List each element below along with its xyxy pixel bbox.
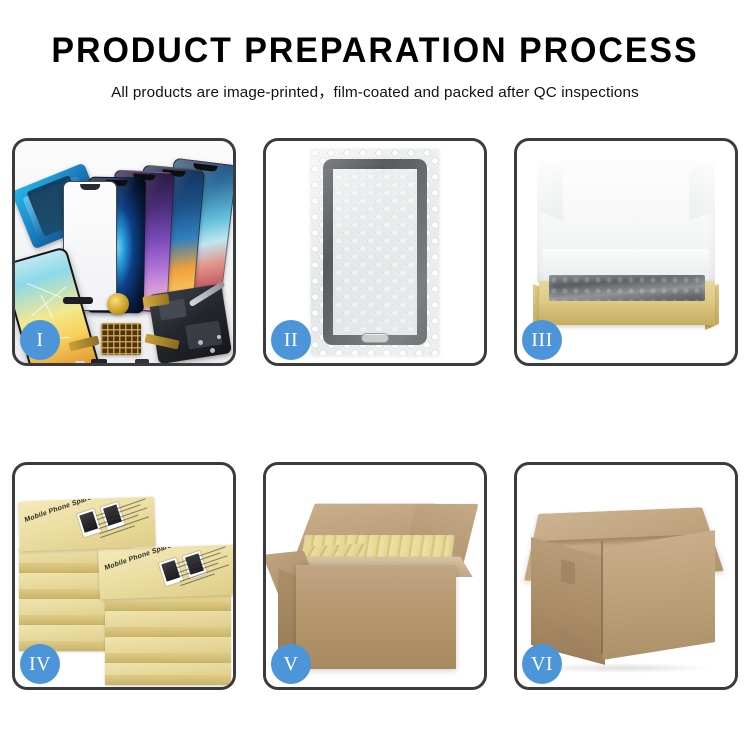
step-panel-6[interactable]: VI: [514, 462, 738, 690]
screw-part-icon: [198, 340, 203, 345]
step-panel-4[interactable]: Mobile Phone Spare Parts Mobile Phone Sp…: [12, 462, 236, 690]
step-panel-5[interactable]: V: [263, 462, 487, 690]
step-badge-1: I: [20, 320, 60, 360]
step-badge-3: III: [522, 320, 562, 360]
printed-box-lid-back: Mobile Phone Spare Parts: [18, 497, 156, 552]
step-badge-5: V: [271, 644, 311, 684]
carton-corner-edge: [601, 541, 603, 653]
step-badge-6: VI: [522, 644, 562, 684]
header: PRODUCT PREPARATION PROCESS All products…: [0, 0, 750, 102]
speaker-bar-part-icon: [63, 297, 93, 304]
screw-part-icon: [217, 335, 221, 339]
box-lid-right-icon: [689, 161, 715, 220]
box-lid-left-icon: [537, 161, 563, 220]
chip-array-part-icon: [101, 323, 141, 355]
page-subtitle: All products are image-printed，film-coat…: [0, 80, 750, 102]
step-panel-2[interactable]: II: [263, 138, 487, 366]
small-component-part-icon: [75, 361, 85, 363]
carton-tape-patch-icon: [561, 559, 575, 585]
step-panel-3[interactable]: III: [514, 138, 738, 366]
wrapped-phone-screen-icon: [323, 159, 427, 345]
step-badge-2: II: [271, 320, 311, 360]
vibration-motor-part-icon: [107, 293, 129, 315]
open-kraft-box-icon: [539, 281, 715, 325]
product-preparation-infographic: PRODUCT PREPARATION PROCESS All products…: [0, 0, 750, 750]
open-carton-icon: [296, 565, 456, 669]
step-panel-1[interactable]: I: [12, 138, 236, 366]
step-badge-4: IV: [20, 644, 60, 684]
kraft-box-front-face: [539, 305, 715, 325]
packed-screen-icon: [549, 275, 705, 301]
small-component-part-icon: [91, 359, 107, 363]
carton-tape-patch-icon: [561, 631, 575, 653]
process-steps-grid: I II II: [12, 138, 738, 690]
carton-right-face-icon: [603, 530, 715, 660]
screw-part-icon: [210, 348, 215, 353]
printed-box-lid-front: Mobile Phone Spare Parts: [98, 545, 233, 600]
page-title: PRODUCT PREPARATION PROCESS: [11, 33, 739, 70]
small-component-part-icon: [135, 359, 149, 363]
